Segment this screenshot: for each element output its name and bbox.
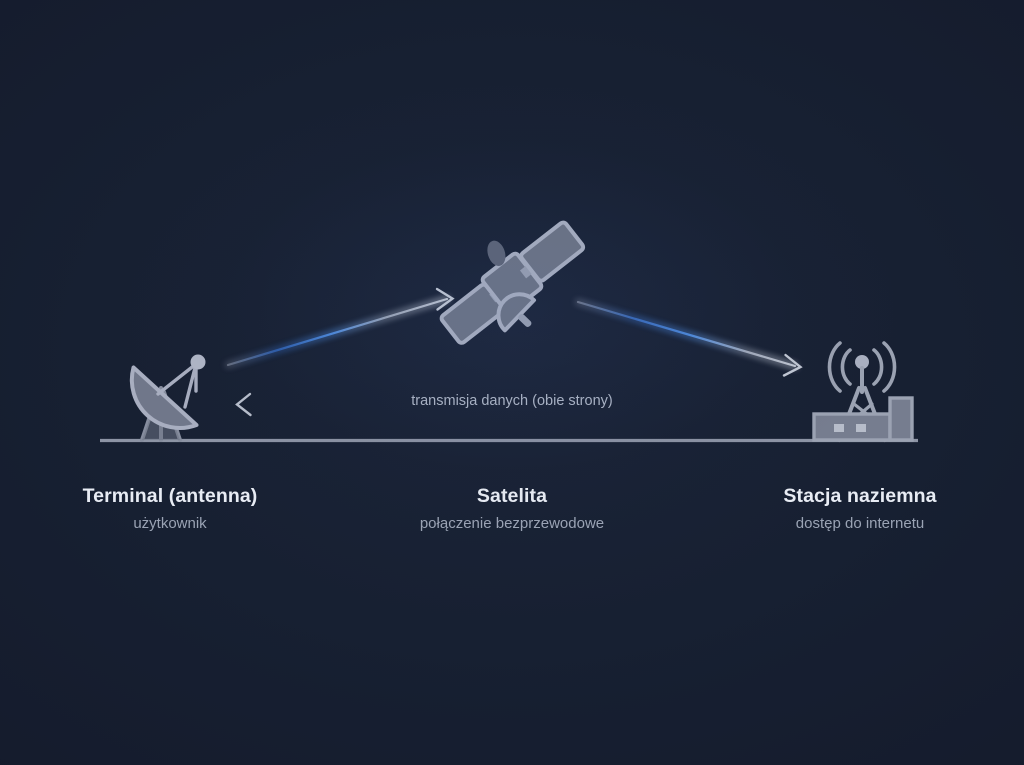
link-caption: transmisja danych (obie strony): [0, 393, 1024, 409]
node-title-satellite: Satelita: [362, 483, 662, 509]
radio-tower-icon[interactable]: [814, 343, 912, 440]
uplink-arrow: [228, 289, 453, 365]
node-subtitle-satellite: połączenie bezprzewodowe: [362, 512, 662, 536]
diagram-canvas: transmisja danych (obie strony) Terminal…: [0, 0, 1024, 765]
node-title-terminal: Terminal (antenna): [20, 483, 320, 509]
satellite-icon[interactable]: [421, 196, 604, 368]
node-label-terminal[interactable]: Terminal (antenna) użytkownik: [20, 483, 320, 536]
node-subtitle-terminal: użytkownik: [20, 512, 320, 536]
node-label-ground-station[interactable]: Stacja naziemna dostęp do internetu: [710, 483, 1010, 536]
diagram-svg: [0, 0, 1024, 765]
node-subtitle-ground-station: dostęp do internetu: [710, 512, 1010, 536]
link-caption-text: transmisja danych (obie strony): [401, 393, 622, 409]
downlink-arrow: [578, 302, 801, 376]
node-title-ground-station: Stacja naziemna: [710, 483, 1010, 509]
node-label-satellite[interactable]: Satelita połączenie bezprzewodowe: [362, 483, 662, 536]
